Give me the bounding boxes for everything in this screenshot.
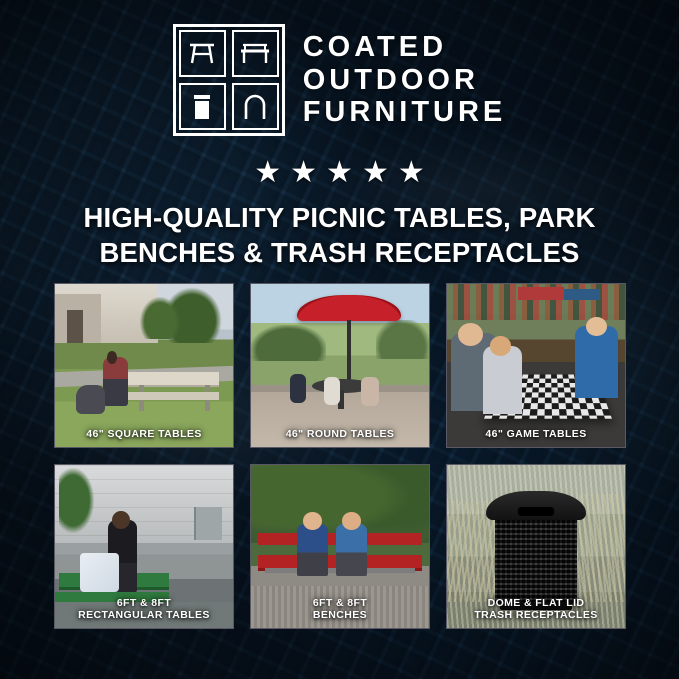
logo-cell-picnic-table-icon <box>179 30 226 77</box>
star-icon: ★ <box>326 158 353 188</box>
product-caption: 46" GAME TABLES <box>447 423 625 447</box>
star-icon: ★ <box>362 158 389 188</box>
product-caption: 46" ROUND TABLES <box>251 423 429 447</box>
product-tile-round-tables[interactable]: 46" ROUND TABLES <box>250 283 430 448</box>
star-icon: ★ <box>254 158 281 188</box>
headline-line-2: BENCHES & TRASH RECEPTACLES <box>40 235 639 270</box>
product-caption-line-2: BENCHES <box>255 609 425 621</box>
headline: HIGH-QUALITY PICNIC TABLES, PARK BENCHES… <box>0 200 679 270</box>
product-tile-benches[interactable]: 6FT & 8FT BENCHES <box>250 464 430 629</box>
product-tile-game-tables[interactable]: 46" GAME TABLES <box>446 283 626 448</box>
brand-name-line-2: OUTDOOR <box>303 65 507 96</box>
logo-cell-dome-lid-trash-icon <box>232 83 279 130</box>
product-caption: 46" SQUARE TABLES <box>55 423 233 447</box>
star-icon: ★ <box>398 158 425 188</box>
product-banner: COATED OUTDOOR FURNITURE ★ ★ ★ ★ ★ HIGH-… <box>0 0 679 679</box>
product-caption-line-2: TRASH RECEPTACLES <box>451 609 621 621</box>
product-caption-line-1: 46" SQUARE TABLES <box>59 428 229 440</box>
brand-name-line-3: FURNITURE <box>303 97 507 128</box>
brand-name-line-1: COATED <box>303 32 507 63</box>
product-tile-rectangular-tables[interactable]: 6FT & 8FT RECTANGULAR TABLES <box>54 464 234 629</box>
product-caption-line-1: 46" ROUND TABLES <box>255 428 425 440</box>
product-caption-line-1: 6FT & 8FT <box>255 597 425 609</box>
brand-logo: COATED OUTDOOR FURNITURE <box>0 24 679 136</box>
product-grid: 46" SQUARE TABLES 46" ROUND TABLES <box>54 283 626 629</box>
brand-name: COATED OUTDOOR FURNITURE <box>303 32 507 128</box>
product-caption: 6FT & 8FT BENCHES <box>251 592 429 628</box>
product-caption-line-1: DOME & FLAT LID <box>451 597 621 609</box>
headline-line-1: HIGH-QUALITY PICNIC TABLES, PARK <box>40 200 639 235</box>
rating-stars: ★ ★ ★ ★ ★ <box>0 158 679 188</box>
product-caption-line-2: RECTANGULAR TABLES <box>59 609 229 621</box>
logo-mark-icon <box>173 24 285 136</box>
product-caption: DOME & FLAT LID TRASH RECEPTACLES <box>447 592 625 628</box>
product-tile-square-tables[interactable]: 46" SQUARE TABLES <box>54 283 234 448</box>
product-tile-trash-receptacles[interactable]: DOME & FLAT LID TRASH RECEPTACLES <box>446 464 626 629</box>
logo-cell-flat-lid-trash-icon <box>179 83 226 130</box>
star-icon: ★ <box>290 158 317 188</box>
product-caption-line-1: 6FT & 8FT <box>59 597 229 609</box>
product-caption-line-1: 46" GAME TABLES <box>451 428 621 440</box>
logo-cell-bench-icon <box>232 30 279 77</box>
product-caption: 6FT & 8FT RECTANGULAR TABLES <box>55 592 233 628</box>
